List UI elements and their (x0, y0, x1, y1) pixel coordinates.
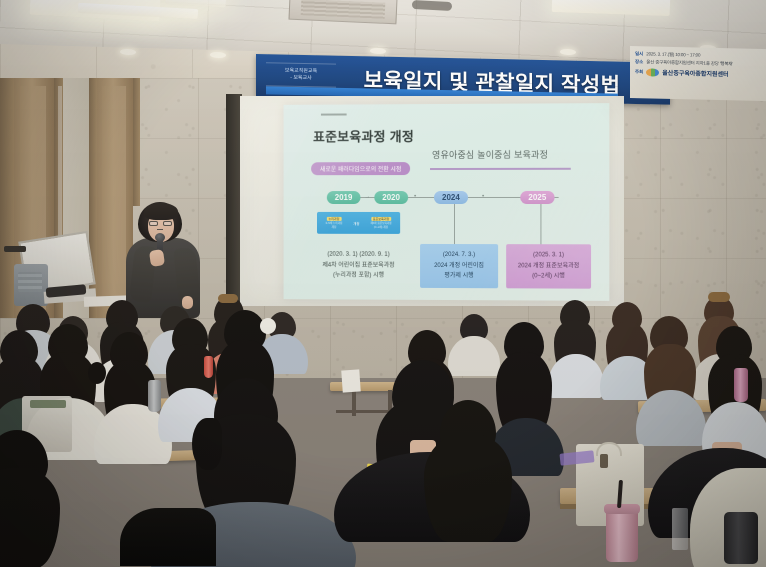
mini-box-left: 누리과정 3~5세 누리과정 개정 (325, 217, 342, 230)
bag-strap (30, 400, 66, 408)
thermos-bottle[interactable] (148, 380, 161, 412)
presenter-hand-left (149, 249, 165, 267)
timeline-mini-box: 누리과정 3~5세 누리과정 개정 개정 표준보육과정 제4차 표준보육과정 (… (317, 212, 400, 234)
timeline-note-2025: (2025. 3. 1) 2024 개정 표준보육과정 (0~2세) 시행 (506, 244, 591, 289)
center-logo-icon (646, 68, 659, 76)
note-line: (2024. 7. 3.) (443, 251, 475, 260)
banner-info-tag: 주최 (635, 69, 643, 75)
mini-box-left-text2: 개정 (331, 226, 336, 229)
note-line: 제4차 어린이집 표준보육과정 (322, 261, 394, 270)
timeline-year-2020: 2020 (374, 191, 408, 204)
note-line: (2025. 3. 1) (533, 252, 564, 261)
ceiling-spot-icon (370, 48, 386, 55)
water-bottle[interactable] (204, 356, 213, 378)
ceiling-spot-icon (120, 49, 136, 56)
banner-organizer: 울산중구육아종합지원센터 (662, 68, 728, 79)
slide-title: 표준보육과정 개정 (313, 126, 414, 145)
timeline-dot-icon: • (482, 194, 484, 200)
timeline-year-2019: 2019 (327, 191, 360, 204)
banner-info-text: 울산 중구육아종합지원센터 지하1층 강당 '행복채' (646, 59, 733, 67)
timeline-connector (540, 204, 541, 244)
banner-info-row: 주최 울산중구육아종합지원센터 (635, 67, 762, 79)
note-line: 2024 개정 어린이집 (434, 262, 484, 271)
note-line: 평가제 시행 (444, 272, 473, 281)
hair-scrunchie-icon (260, 318, 276, 334)
mini-box-right: 표준보육과정 제4차 표준보육과정 (0~2세) 개정 (371, 217, 392, 230)
slide-subtitle: 영유아중심 놀이중심 보육과정 (432, 148, 548, 161)
slide-highlight-pill: 새로운 패러다임으로의 전환 시점 (311, 162, 410, 175)
banner-info-panel: 일시 2025. 3. 17.(월) 10:00 ~ 17:00 장소 울산 중… (630, 46, 766, 101)
note-line: (2020. 3. 1) (2020. 9. 1) (327, 251, 389, 260)
banner-info-tag: 일시 (635, 51, 643, 57)
clear-cup[interactable] (672, 508, 688, 550)
mini-box-arrow: 개정 (353, 220, 359, 225)
hair-clip-icon (218, 294, 238, 303)
foreground-head-silhouette (120, 508, 216, 566)
glasses-icon (149, 221, 158, 226)
mini-box-right-text1: 제4차 표준보육과정 (371, 222, 392, 225)
timeline-year-2024: 2024 (434, 191, 468, 204)
lecture-hall-photo: 보육교직원교육 - 보육교사 보육일지 및 관찰일지 작성법 일시 2025. … (0, 0, 766, 567)
banner-info-text: 2025. 3. 17.(월) 10:00 ~ 17:00 (646, 51, 700, 58)
note-line: (0~2세) 시행 (532, 272, 565, 281)
tumbler-lid (604, 504, 640, 514)
banner-badge-line2: - 보육교사 (290, 75, 311, 82)
audience-hair-foreground (424, 434, 512, 542)
timeline-note-2020: (2020. 3. 1) (2020. 9. 1) 제4차 어린이집 표준보육과… (305, 244, 412, 288)
ponytail (88, 362, 106, 384)
mini-box-right-text2: (0~2세) 개정 (374, 226, 388, 229)
timeline-note-2024: (2024. 7. 3.) 2024 개정 어린이집 평가제 시행 (420, 244, 498, 288)
door-frame (0, 78, 14, 318)
mini-box-right-tag: 표준보육과정 (371, 217, 391, 221)
slide-rule (321, 113, 347, 115)
audience-hair-foreground (0, 468, 60, 567)
presenter-fringe (144, 203, 178, 220)
ceiling-spot-icon (560, 49, 576, 56)
black-tumbler[interactable] (724, 512, 758, 564)
slide-pill-rule (430, 168, 571, 170)
presentation-slide: 표준보육과정 개정 영유아중심 놀이중심 보육과정 새로운 패러다임으로의 전환… (284, 103, 610, 301)
banner-info-tag: 장소 (635, 59, 643, 65)
door-panel (102, 86, 126, 310)
ceiling-spot-icon (210, 52, 226, 59)
hair-clip-icon (708, 292, 730, 302)
timeline-dot-icon: • (414, 194, 416, 200)
presenter-hand-right (182, 296, 193, 309)
glasses-bridge (157, 229, 163, 230)
note-line: 2024 개정 표준보육과정 (518, 262, 579, 271)
bag-tag (600, 454, 608, 468)
notebook[interactable] (341, 369, 360, 392)
chair-back-slats (18, 272, 42, 292)
note-line: (누리과정 포함) 시행 (333, 271, 384, 280)
glasses-icon (163, 221, 172, 226)
pink-bottle[interactable] (734, 368, 748, 402)
timeline-connector (454, 204, 455, 244)
mini-box-left-tag: 누리과정 (326, 217, 341, 221)
banner-left-badge: 보육교직원교육 - 보육교사 (266, 62, 336, 87)
ponytail (192, 418, 222, 470)
mini-box-left-text1: 3~5세 누리과정 (325, 222, 342, 225)
timeline-year-2025: 2025 (520, 191, 554, 204)
timeline-arrow-icon: → (364, 194, 370, 200)
microphone-head-icon (155, 233, 165, 242)
pink-tumbler[interactable] (606, 508, 638, 562)
door-frame (133, 78, 140, 206)
equipment-bar (4, 246, 26, 252)
